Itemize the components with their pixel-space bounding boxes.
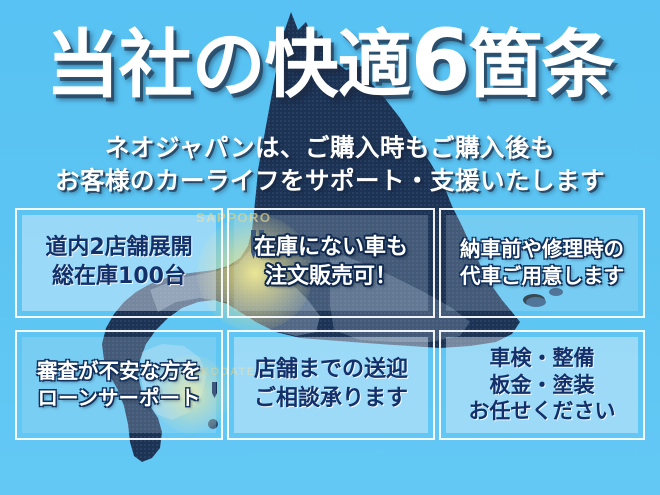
feature-box-1-line-1: 道内2店舗展開 <box>45 234 192 263</box>
feature-box-3-inner: 納車前や修理時の 代車ご用意します <box>446 215 638 311</box>
feature-box-6-line-1: 車検・整備 <box>490 345 595 371</box>
feature-box-6-line-3: お任せください <box>469 398 616 424</box>
page-title: 当社の快適6箇条 <box>0 18 660 106</box>
feature-box-4-inner: 審査が不安な方を ローンサーポート <box>22 337 216 433</box>
feature-box-2: 在庫にない車も 注文販売可！ <box>227 208 435 318</box>
feature-box-5: 店舗までの送迎 ご相談承ります <box>227 330 435 440</box>
feature-box-2-line-2: 注文販売可！ <box>265 263 397 292</box>
feature-box-5-line-1: 店舗までの送迎 <box>254 356 408 385</box>
title-part-before: 当社の快適 <box>46 22 411 108</box>
feature-box-4: 審査が不安な方を ローンサーポート <box>15 330 223 440</box>
feature-box-5-inner: 店舗までの送迎 ご相談承ります <box>234 337 428 433</box>
feature-box-5-line-2: ご相談承ります <box>254 385 408 414</box>
feature-box-6-inner: 車検・整備 板金・塗装 お任せください <box>446 337 638 433</box>
subtitle: ネオジャパンは、ご購入時もご購入後も お客様のカーライフをサポート・支援いたしま… <box>0 132 660 197</box>
feature-box-1-line-2: 総在庫100台 <box>52 263 186 292</box>
feature-box-3: 納車前や修理時の 代車ご用意します <box>439 208 645 318</box>
feature-box-2-line-1: 在庫にない車も <box>254 234 408 263</box>
feature-box-3-line-1: 納車前や修理時の <box>460 236 624 263</box>
feature-box-1-inner: 道内2店舗展開 総在庫100台 <box>22 215 216 311</box>
feature-box-2-inner: 在庫にない車も 注文販売可！ <box>234 215 428 311</box>
promo-banner: SAPPORO HAKODATE 当社の快適6箇条 ネオジャパンは、ご購入時もご… <box>0 0 660 495</box>
feature-box-6: 車検・整備 板金・塗装 お任せください <box>439 330 645 440</box>
subtitle-line-2: お客様のカーライフをサポート・支援いたします <box>0 165 660 198</box>
feature-box-3-line-2: 代車ご用意します <box>460 263 624 290</box>
subtitle-line-1: ネオジャパンは、ご購入時もご購入後も <box>0 132 660 165</box>
feature-box-6-line-2: 板金・塗装 <box>490 372 595 398</box>
feature-box-4-line-2: ローンサーポート <box>38 385 201 412</box>
title-number: 6 <box>411 11 469 111</box>
title-part-after: 箇条 <box>468 22 614 108</box>
feature-box-4-line-1: 審査が不安な方を <box>37 358 201 385</box>
feature-box-1: 道内2店舗展開 総在庫100台 <box>15 208 223 318</box>
